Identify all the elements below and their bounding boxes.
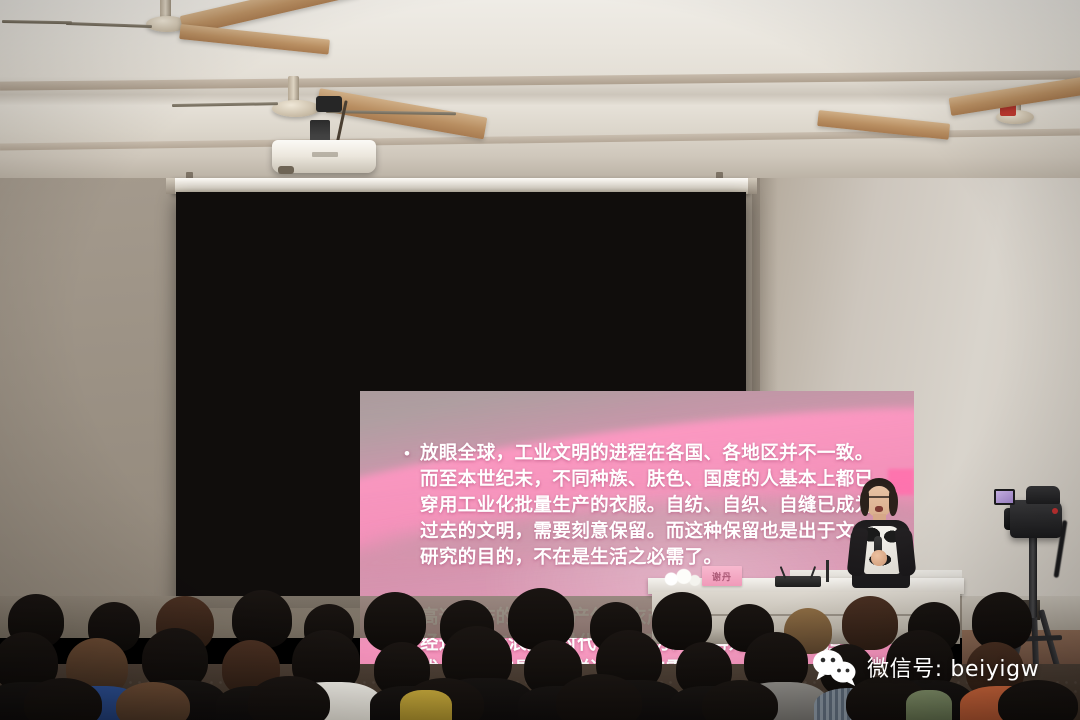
presenter-hair-right — [889, 490, 898, 516]
presenter-hair-left — [860, 490, 869, 516]
presenter-glasses — [868, 496, 890, 501]
flower-arrangement — [662, 568, 704, 588]
housing-endcap-right — [748, 178, 757, 194]
lecture-hall-photo: • 放眼全球，工业文明的进程在各国、各地区并不一致。而至本世纪末，不同种族、肤色… — [0, 0, 1080, 720]
projector-lens — [278, 166, 294, 174]
bullet-marker-icon: • — [404, 441, 420, 571]
name-card-text: 谢丹 — [712, 570, 732, 583]
audience-head — [232, 590, 292, 648]
audience-body — [400, 690, 452, 720]
ceiling-fan-right — [900, 96, 1080, 186]
camera-record-indicator — [1052, 508, 1058, 514]
microphone-stand — [826, 560, 829, 582]
projector-brand-label — [312, 152, 338, 157]
watermark-text: 微信号: beiyigw — [867, 651, 1039, 683]
projector-ceiling-mount — [316, 96, 342, 112]
presenter — [840, 478, 928, 588]
slide-bullet-text: 放眼全球，工业文明的进程在各国、各地区并不一致。而至本世纪末，不同种族、肤色、国… — [420, 441, 874, 571]
audience-head — [972, 592, 1032, 650]
projection-screen: • 放眼全球，工业文明的进程在各国、各地区并不一致。而至本世纪末，不同种族、肤色… — [176, 192, 746, 608]
speaker-name-card: 谢丹 — [702, 566, 742, 586]
audience-head — [508, 588, 574, 650]
wechat-watermark: 微信号: beiyigw — [812, 648, 1039, 686]
video-camera — [1010, 500, 1062, 538]
slide-bullet-item: • 放眼全球，工业文明的进程在各国、各地区并不一致。而至本世纪末，不同种族、肤色… — [404, 441, 874, 571]
wechat-icon — [812, 648, 858, 686]
presenter-hands — [871, 550, 887, 566]
audience-head — [842, 596, 898, 650]
presenter-arm-right — [895, 527, 917, 577]
projector-mount-arm — [310, 120, 330, 142]
audience-body — [906, 690, 952, 720]
camera-top-handle — [1026, 486, 1060, 504]
camera-lcd-screen — [994, 489, 1015, 505]
housing-endcap-left — [166, 178, 175, 194]
presenter-mouth — [875, 506, 883, 512]
